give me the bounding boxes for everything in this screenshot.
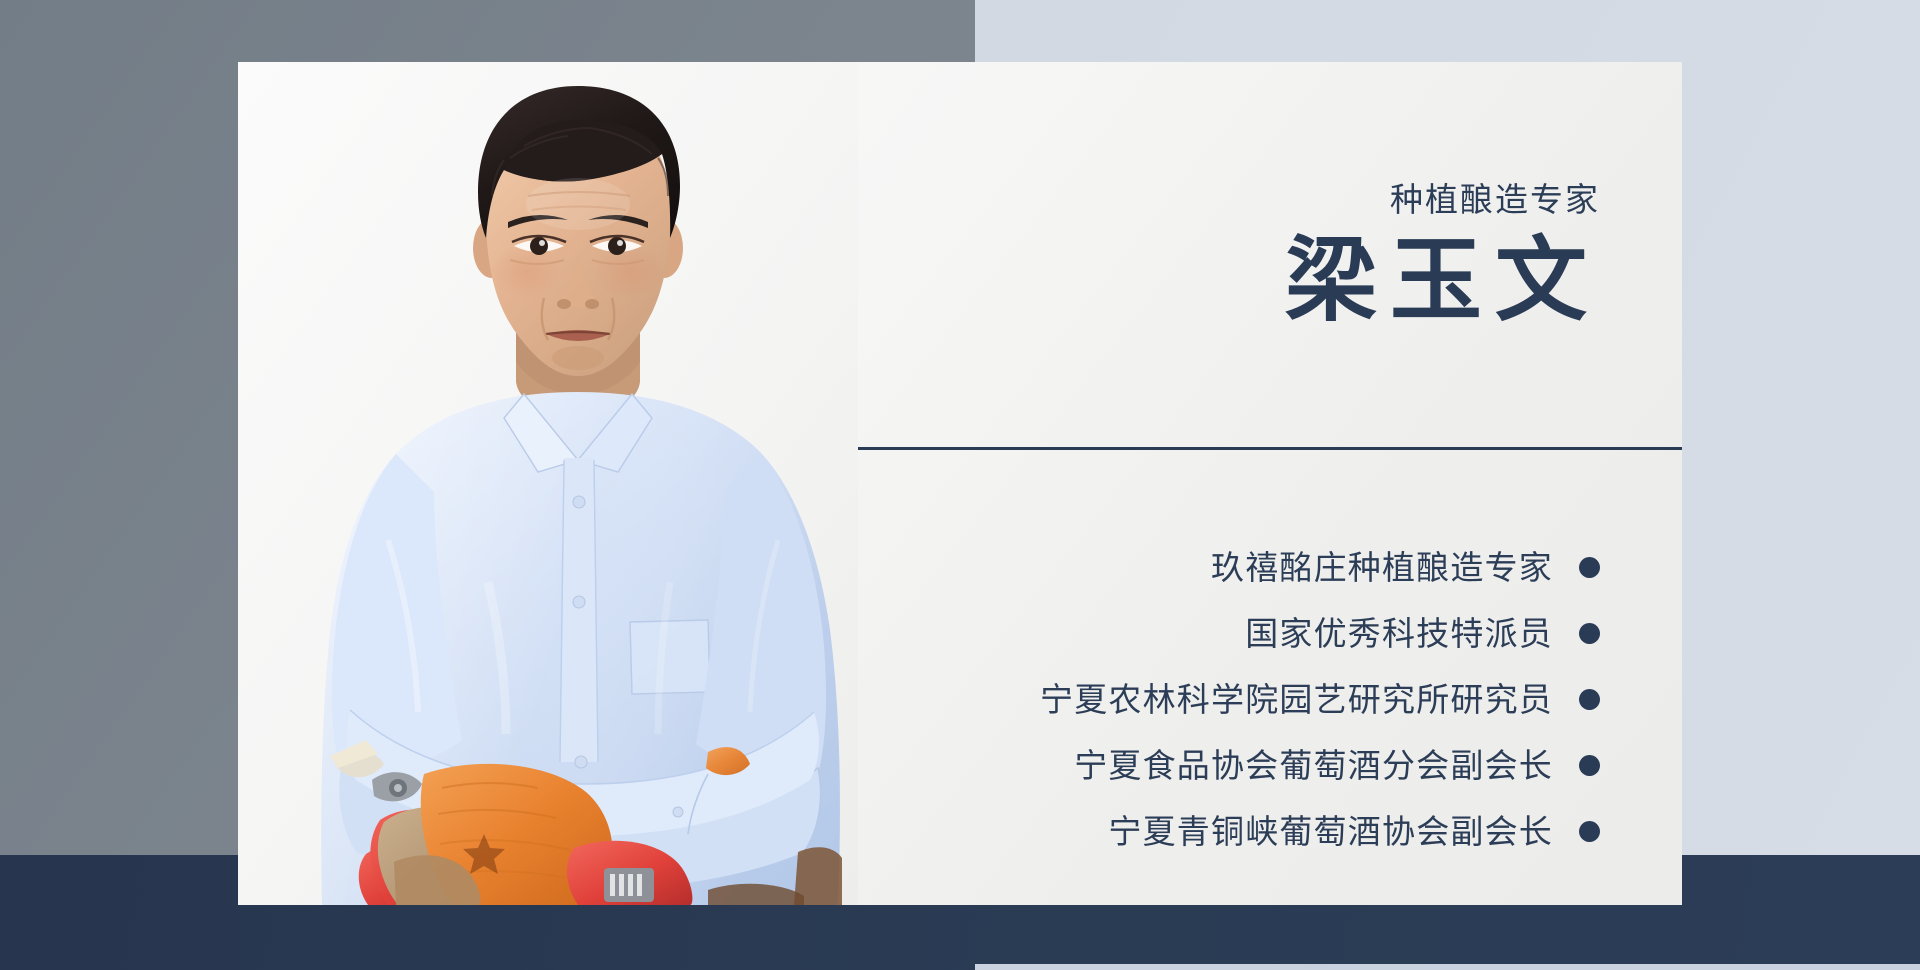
credential-item: 宁夏青铜峡葡萄酒协会副会长: [770, 798, 1600, 864]
divider-rule: [858, 445, 1682, 451]
credential-label: 宁夏食品协会葡萄酒分会副会长: [1074, 749, 1553, 782]
bullet-dot-icon: [1579, 755, 1600, 776]
role-subtitle: 种植酿造专家: [1272, 180, 1600, 220]
credential-label: 国家优秀科技特派员: [1245, 617, 1553, 650]
bullet-dot-icon: [1579, 821, 1600, 842]
credential-item: 宁夏食品协会葡萄酒分会副会长: [770, 732, 1600, 798]
profile-card: 种植酿造专家 梁玉文 玖禧酩庄种植酿造专家 国家优秀科技特派员 宁夏农林科学院园…: [238, 62, 1682, 905]
identity-block: 种植酿造专家 梁玉文: [1272, 180, 1600, 333]
person-name: 梁玉文: [1272, 230, 1600, 333]
credential-label: 玖禧酩庄种植酿造专家: [1211, 551, 1553, 584]
divider-line: [858, 447, 1682, 450]
credential-label: 宁夏农林科学院园艺研究所研究员: [1040, 683, 1553, 716]
credential-item: 国家优秀科技特派员: [770, 600, 1600, 666]
credential-item: 玖禧酩庄种植酿造专家: [770, 534, 1600, 600]
portrait-photo: [238, 62, 858, 905]
bullet-dot-icon: [1579, 557, 1600, 578]
credentials-list: 玖禧酩庄种植酿造专家 国家优秀科技特派员 宁夏农林科学院园艺研究所研究员 宁夏食…: [770, 534, 1600, 864]
background-bottom-strip: [975, 964, 1920, 970]
bullet-dot-icon: [1579, 623, 1600, 644]
bullet-dot-icon: [1579, 689, 1600, 710]
credential-label: 宁夏青铜峡葡萄酒协会副会长: [1108, 815, 1553, 848]
credential-item: 宁夏农林科学院园艺研究所研究员: [770, 666, 1600, 732]
